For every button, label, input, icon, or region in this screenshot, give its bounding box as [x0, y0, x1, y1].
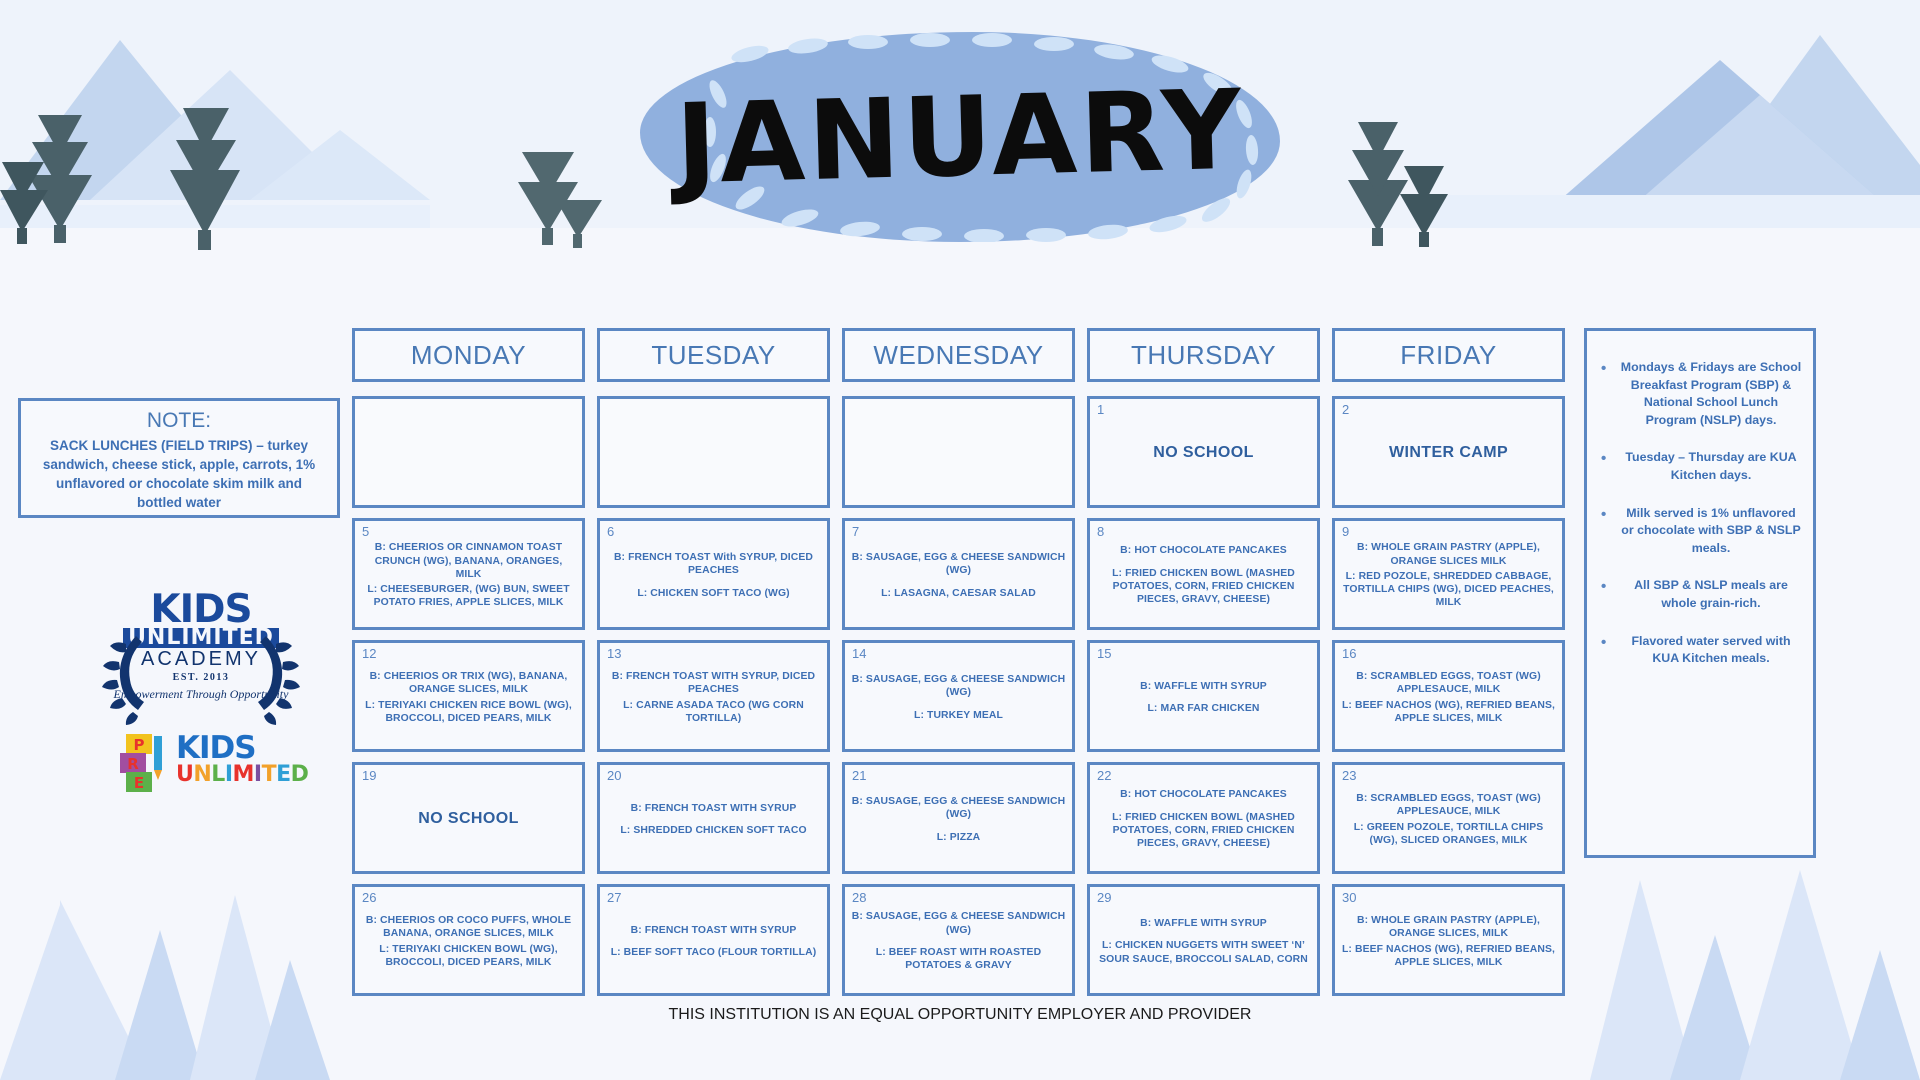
- month-banner: JANUARY: [640, 32, 1280, 242]
- breakfast-menu: B: SAUSAGE, EGG & CHEESE SANDWICH (WG): [851, 910, 1066, 937]
- month-title: JANUARY: [637, 24, 1282, 251]
- calendar-day-cell: 7B: SAUSAGE, EGG & CHEESE SANDWICH (WG)L…: [842, 518, 1075, 630]
- lunch-menu: L: FRIED CHICKEN BOWL (MASHED POTATOES, …: [1096, 567, 1311, 607]
- breakfast-menu: B: WHOLE GRAIN PASTRY (APPLE), ORANGE SL…: [1341, 914, 1556, 941]
- lunch-menu: L: LASAGNA, CAESAR SALAD: [851, 587, 1066, 600]
- program-info-list: Mondays & Fridays are School Breakfast P…: [1597, 359, 1803, 668]
- day-menu-body: B: FRENCH TOAST WITH SYRUP, DICED PEACHE…: [606, 650, 821, 745]
- svg-text:E: E: [134, 774, 144, 792]
- breakfast-menu: B: HOT CHOCOLATE PANCAKES: [1096, 544, 1311, 557]
- day-number: 5: [362, 524, 369, 539]
- calendar-week-row: 26B: CHEERIOS OR COCO PUFFS, WHOLE BANAN…: [352, 884, 1565, 996]
- weekday-tuesday: TUESDAY: [597, 328, 830, 382]
- day-menu-body: [361, 406, 576, 501]
- kids-unlimited-academy-logo: KIDS UNLIMITED ACADEMY EST. 2013 Empower…: [96, 592, 306, 702]
- calendar-day-cell: 2WINTER CAMP: [1332, 396, 1565, 508]
- lunch-menu: L: CHEESEBURGER, (WG) BUN, SWEET POTATO …: [361, 583, 576, 610]
- calendar-week-row: 12B: CHEERIOS OR TRIX (WG), BANANA, ORAN…: [352, 640, 1565, 752]
- note-text: SACK LUNCHES (FIELD TRIPS) – turkey sand…: [33, 436, 325, 513]
- lunch-menu: L: GREEN POZOLE, TORTILLA CHIPS (WG), SL…: [1341, 821, 1556, 848]
- calendar-day-cell: 5B: CHEERIOS OR CINNAMON TOAST CRUNCH (W…: [352, 518, 585, 630]
- weekday-monday: MONDAY: [352, 328, 585, 382]
- calendar-day-cell: 30B: WHOLE GRAIN PASTRY (APPLE), ORANGE …: [1332, 884, 1565, 996]
- day-menu-body: B: SAUSAGE, EGG & CHEESE SANDWICH (WG)L:…: [851, 894, 1066, 989]
- day-menu-body: [606, 406, 821, 501]
- calendar-day-cell: 29B: WAFFLE WITH SYRUPL: CHICKEN NUGGETS…: [1087, 884, 1320, 996]
- breakfast-menu: B: SCRAMBLED EGGS, TOAST (WG) APPLESAUCE…: [1341, 792, 1556, 819]
- lunch-menu: L: PIZZA: [851, 831, 1066, 844]
- note-box: NOTE: SACK LUNCHES (FIELD TRIPS) – turke…: [18, 398, 340, 518]
- calendar-day-cell: 14B: SAUSAGE, EGG & CHEESE SANDWICH (WG)…: [842, 640, 1075, 752]
- breakfast-menu: B: CHEERIOS OR TRIX (WG), BANANA, ORANGE…: [361, 670, 576, 697]
- day-number: 21: [852, 768, 866, 783]
- day-number: 28: [852, 890, 866, 905]
- footer-statement: THIS INSTITUTION IS AN EQUAL OPPORTUNITY…: [0, 1006, 1920, 1024]
- day-menu-body: [851, 406, 1066, 501]
- breakfast-menu: B: SAUSAGE, EGG & CHEESE SANDWICH (WG): [851, 795, 1066, 822]
- calendar-week-row: 5B: CHEERIOS OR CINNAMON TOAST CRUNCH (W…: [352, 518, 1565, 630]
- day-menu-body: B: SAUSAGE, EGG & CHEESE SANDWICH (WG)L:…: [851, 772, 1066, 867]
- day-number: 15: [1097, 646, 1111, 661]
- day-menu-body: B: WAFFLE WITH SYRUPL: CHICKEN NUGGETS W…: [1096, 894, 1311, 989]
- day-menu-body: B: SCRAMBLED EGGS, TOAST (WG) APPLESAUCE…: [1341, 650, 1556, 745]
- day-number: 14: [852, 646, 866, 661]
- day-menu-body: B: FRENCH TOAST WITH SYRUPL: BEEF SOFT T…: [606, 894, 821, 989]
- lunch-menu: L: MAR FAR CHICKEN: [1096, 702, 1311, 715]
- program-info-bullet: Flavored water served with KUA Kitchen m…: [1597, 633, 1803, 668]
- day-number: 9: [1342, 524, 1349, 539]
- day-menu-body: B: SAUSAGE, EGG & CHEESE SANDWICH (WG)L:…: [851, 528, 1066, 623]
- day-number: 23: [1342, 768, 1356, 783]
- day-menu-body: B: CHEERIOS OR COCO PUFFS, WHOLE BANANA,…: [361, 894, 576, 989]
- day-number: 2: [1342, 402, 1349, 417]
- day-menu-body: NO SCHOOL: [361, 772, 576, 867]
- calendar-day-cell: 20B: FRENCH TOAST WITH SYRUPL: SHREDDED …: [597, 762, 830, 874]
- calendar-day-cell: 26B: CHEERIOS OR COCO PUFFS, WHOLE BANAN…: [352, 884, 585, 996]
- calendar-week-row: 19NO SCHOOL20B: FRENCH TOAST WITH SYRUPL…: [352, 762, 1565, 874]
- day-menu-body: B: SAUSAGE, EGG & CHEESE SANDWICH (WG)L:…: [851, 650, 1066, 745]
- calendar-day-cell: 15B: WAFFLE WITH SYRUPL: MAR FAR CHICKEN: [1087, 640, 1320, 752]
- day-menu-body: B: SCRAMBLED EGGS, TOAST (WG) APPLESAUCE…: [1341, 772, 1556, 867]
- day-number: 20: [607, 768, 621, 783]
- pre-logo-unlimited-text: UNLIMITED: [176, 762, 308, 787]
- day-number: 29: [1097, 890, 1111, 905]
- breakfast-menu: B: FRENCH TOAST With SYRUP, DICED PEACHE…: [606, 551, 821, 578]
- note-title: NOTE:: [33, 409, 325, 433]
- weekday-header-row: MONDAY TUESDAY WEDNESDAY THURSDAY FRIDAY: [352, 328, 1565, 382]
- breakfast-menu: B: SAUSAGE, EGG & CHEESE SANDWICH (WG): [851, 673, 1066, 700]
- program-info-bullet: Milk served is 1% unflavored or chocolat…: [1597, 505, 1803, 558]
- day-menu-body: B: HOT CHOCOLATE PANCAKESL: FRIED CHICKE…: [1096, 528, 1311, 623]
- weekday-thursday: THURSDAY: [1087, 328, 1320, 382]
- calendar-day-cell: 21B: SAUSAGE, EGG & CHEESE SANDWICH (WG)…: [842, 762, 1075, 874]
- day-menu-body: NO SCHOOL: [1096, 406, 1311, 501]
- day-special-label: WINTER CAMP: [1341, 443, 1556, 463]
- breakfast-menu: B: CHEERIOS OR COCO PUFFS, WHOLE BANANA,…: [361, 914, 576, 941]
- weekday-friday: FRIDAY: [1332, 328, 1565, 382]
- breakfast-menu: B: FRENCH TOAST WITH SYRUP, DICED PEACHE…: [606, 670, 821, 697]
- lunch-menu: L: BEEF NACHOS (WG), REFRIED BEANS, APPL…: [1341, 699, 1556, 726]
- breakfast-menu: B: CHEERIOS OR CINNAMON TOAST CRUNCH (WG…: [361, 541, 576, 581]
- calendar-cell-empty: [842, 396, 1075, 508]
- lunch-menu: L: SHREDDED CHICKEN SOFT TACO: [606, 824, 821, 837]
- calendar-day-cell: 1NO SCHOOL: [1087, 396, 1320, 508]
- lunch-menu: L: BEEF NACHOS (WG), REFRIED BEANS, APPL…: [1341, 943, 1556, 970]
- calendar-day-cell: 23B: SCRAMBLED EGGS, TOAST (WG) APPLESAU…: [1332, 762, 1565, 874]
- day-special-label: NO SCHOOL: [361, 809, 576, 829]
- lunch-menu: L: TURKEY MEAL: [851, 709, 1066, 722]
- calendar-day-cell: 19NO SCHOOL: [352, 762, 585, 874]
- breakfast-menu: B: HOT CHOCOLATE PANCAKES: [1096, 788, 1311, 801]
- program-info-bullet: Mondays & Fridays are School Breakfast P…: [1597, 359, 1803, 429]
- day-special-label: NO SCHOOL: [1096, 443, 1311, 463]
- breakfast-menu: B: FRENCH TOAST WITH SYRUP: [606, 802, 821, 815]
- breakfast-menu: B: FRENCH TOAST WITH SYRUP: [606, 924, 821, 937]
- svg-text:P: P: [134, 736, 145, 754]
- day-menu-body: B: WHOLE GRAIN PASTRY (APPLE), ORANGE SL…: [1341, 528, 1556, 623]
- laurel-wreath-icon: [96, 618, 306, 728]
- svg-text:R: R: [127, 755, 139, 773]
- calendar-day-cell: 27B: FRENCH TOAST WITH SYRUPL: BEEF SOFT…: [597, 884, 830, 996]
- day-menu-body: B: FRENCH TOAST With SYRUP, DICED PEACHE…: [606, 528, 821, 623]
- day-menu-body: WINTER CAMP: [1341, 406, 1556, 501]
- calendar-day-cell: 6B: FRENCH TOAST With SYRUP, DICED PEACH…: [597, 518, 830, 630]
- breakfast-menu: B: WAFFLE WITH SYRUP: [1096, 680, 1311, 693]
- day-menu-body: B: HOT CHOCOLATE PANCAKESL: FRIED CHICKE…: [1096, 772, 1311, 867]
- lunch-menu: L: TERIYAKI CHICKEN BOWL (WG), BROCCOLI,…: [361, 943, 576, 970]
- calendar-grid: 1NO SCHOOL2WINTER CAMP5B: CHEERIOS OR CI…: [352, 396, 1565, 996]
- calendar-day-cell: 28B: SAUSAGE, EGG & CHEESE SANDWICH (WG)…: [842, 884, 1075, 996]
- breakfast-menu: B: WAFFLE WITH SYRUP: [1096, 917, 1311, 930]
- program-info-bullet: Tuesday – Thursday are KUA Kitchen days.: [1597, 449, 1803, 484]
- lunch-menu: L: CHICKEN NUGGETS WITH SWEET ‘N’ SOUR S…: [1096, 939, 1311, 966]
- day-menu-body: B: FRENCH TOAST WITH SYRUPL: SHREDDED CH…: [606, 772, 821, 867]
- calendar-cell-empty: [597, 396, 830, 508]
- day-menu-body: B: CHEERIOS OR TRIX (WG), BANANA, ORANGE…: [361, 650, 576, 745]
- lunch-menu: L: TERIYAKI CHICKEN RICE BOWL (WG), BROC…: [361, 699, 576, 726]
- breakfast-menu: B: WHOLE GRAIN PASTRY (APPLE), ORANGE SL…: [1341, 541, 1556, 568]
- calendar-page: JANUARY NOTE: SACK LUNCHES (FIELD TRIPS)…: [0, 0, 1920, 1080]
- calendar-day-cell: 8B: HOT CHOCOLATE PANCAKESL: FRIED CHICK…: [1087, 518, 1320, 630]
- breakfast-menu: B: SAUSAGE, EGG & CHEESE SANDWICH (WG): [851, 551, 1066, 578]
- day-number: 27: [607, 890, 621, 905]
- day-menu-body: B: CHEERIOS OR CINNAMON TOAST CRUNCH (WG…: [361, 528, 576, 623]
- day-number: 16: [1342, 646, 1356, 661]
- weekday-wednesday: WEDNESDAY: [842, 328, 1075, 382]
- day-number: 8: [1097, 524, 1104, 539]
- pre-kids-unlimited-logo: P R E KIDS UNLIMITED: [116, 730, 286, 792]
- calendar-day-cell: 13B: FRENCH TOAST WITH SYRUP, DICED PEAC…: [597, 640, 830, 752]
- day-number: 1: [1097, 402, 1104, 417]
- day-number: 19: [362, 768, 376, 783]
- day-number: 12: [362, 646, 376, 661]
- day-number: 13: [607, 646, 621, 661]
- day-number: 26: [362, 890, 376, 905]
- calendar-cell-empty: [352, 396, 585, 508]
- calendar-day-cell: 16B: SCRAMBLED EGGS, TOAST (WG) APPLESAU…: [1332, 640, 1565, 752]
- lunch-menu: L: CHICKEN SOFT TACO (WG): [606, 587, 821, 600]
- calendar-day-cell: 9B: WHOLE GRAIN PASTRY (APPLE), ORANGE S…: [1332, 518, 1565, 630]
- alphabet-blocks-icon: P R E: [116, 732, 174, 794]
- day-number: 6: [607, 524, 614, 539]
- lunch-menu: L: RED POZOLE, SHREDDED CABBAGE, TORTILL…: [1341, 570, 1556, 610]
- day-menu-body: B: WAFFLE WITH SYRUPL: MAR FAR CHICKEN: [1096, 650, 1311, 745]
- day-number: 7: [852, 524, 859, 539]
- lunch-menu: L: FRIED CHICKEN BOWL (MASHED POTATOES, …: [1096, 811, 1311, 851]
- day-number: 30: [1342, 890, 1356, 905]
- day-menu-body: B: WHOLE GRAIN PASTRY (APPLE), ORANGE SL…: [1341, 894, 1556, 989]
- lunch-menu: L: BEEF ROAST WITH ROASTED POTATOES & GR…: [851, 946, 1066, 973]
- day-number: 22: [1097, 768, 1111, 783]
- lunch-menu: L: CARNE ASADA TACO (WG CORN TORTILLA): [606, 699, 821, 726]
- calendar-day-cell: 12B: CHEERIOS OR TRIX (WG), BANANA, ORAN…: [352, 640, 585, 752]
- program-info-bullet: All SBP & NSLP meals are whole grain-ric…: [1597, 577, 1803, 612]
- program-info-box: Mondays & Fridays are School Breakfast P…: [1584, 328, 1816, 858]
- lunch-menu: L: BEEF SOFT TACO (FLOUR TORTILLA): [606, 946, 821, 959]
- pre-logo-kids-text: KIDS: [176, 730, 256, 766]
- calendar-week-row: 1NO SCHOOL2WINTER CAMP: [352, 396, 1565, 508]
- breakfast-menu: B: SCRAMBLED EGGS, TOAST (WG) APPLESAUCE…: [1341, 670, 1556, 697]
- calendar-day-cell: 22B: HOT CHOCOLATE PANCAKESL: FRIED CHIC…: [1087, 762, 1320, 874]
